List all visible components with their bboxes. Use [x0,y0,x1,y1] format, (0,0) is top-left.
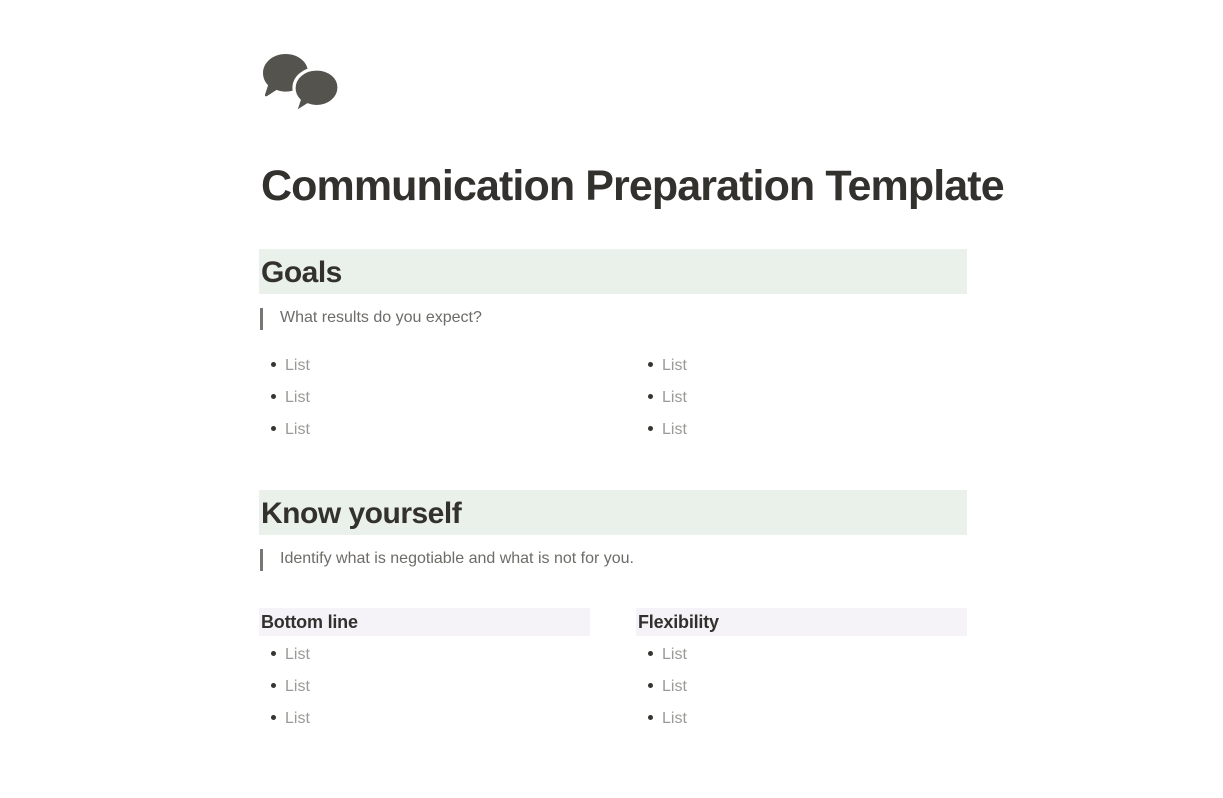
list-bottom-line: List List List [271,639,591,735]
list-item[interactable]: List [648,639,968,671]
callout-goals: What results do you expect? [260,306,482,330]
section-title-goals: Goals [261,255,967,291]
list-item[interactable]: List [271,414,601,446]
bullet-icon [271,670,285,702]
list-item-label: List [662,703,687,735]
subsection-header-flexibility: Flexibility [636,608,967,636]
list-item[interactable]: List [648,671,968,703]
section-header-know-yourself: Know yourself [259,490,967,535]
bullet-icon [648,702,662,734]
callout-know-yourself: Identify what is negotiable and what is … [260,547,634,571]
list-item-label: List [285,350,310,382]
subsection-title-bottom-line: Bottom line [261,611,590,633]
bullet-icon [271,413,285,445]
bullet-icon [648,638,662,670]
list-item[interactable]: List [271,639,591,671]
bullet-icon [271,638,285,670]
page-title: Communication Preparation Template [261,157,1004,215]
list-item-label: List [285,382,310,414]
list-item-label: List [662,350,687,382]
list-item[interactable]: List [648,350,978,382]
list-item[interactable]: List [271,350,601,382]
section-title-know-yourself: Know yourself [261,496,967,532]
list-item-label: List [662,671,687,703]
list-item[interactable]: List [271,703,591,735]
section-header-goals: Goals [259,249,967,294]
bullet-icon [648,381,662,413]
list-item-label: List [662,639,687,671]
subsection-title-flexibility: Flexibility [638,611,967,633]
speech-bubbles-icon [261,52,345,116]
callout-text-goals: What results do you expect? [280,306,482,330]
list-item-label: List [285,703,310,735]
list-goals-left: List List List [271,350,601,446]
list-item[interactable]: List [648,414,978,446]
bullet-icon [271,381,285,413]
list-item[interactable]: List [648,382,978,414]
bullet-icon [271,349,285,381]
list-goals-right: List List List [648,350,978,446]
document-page: Communication Preparation Template Goals… [0,0,1223,798]
list-item[interactable]: List [271,671,591,703]
bullet-icon [648,670,662,702]
list-item-label: List [285,639,310,671]
bullet-icon [648,349,662,381]
list-item[interactable]: List [271,382,601,414]
bullet-icon [271,702,285,734]
bullet-icon [648,413,662,445]
list-item-label: List [285,414,310,446]
list-item-label: List [662,414,687,446]
list-item-label: List [285,671,310,703]
quote-bar-icon [260,308,263,330]
quote-bar-icon [260,549,263,571]
list-item-label: List [662,382,687,414]
callout-text-know-yourself: Identify what is negotiable and what is … [280,547,634,571]
list-item[interactable]: List [648,703,968,735]
subsection-header-bottom-line: Bottom line [259,608,590,636]
list-flexibility: List List List [648,639,968,735]
